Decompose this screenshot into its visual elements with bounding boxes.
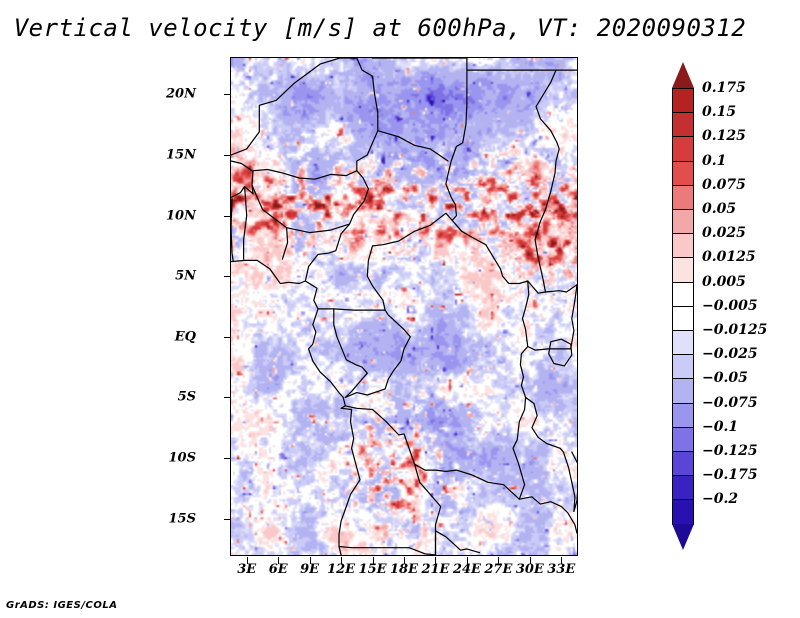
colorbar-tick-label: 0.075 (702, 177, 746, 193)
country-border-line (334, 309, 368, 398)
y-axis-label: 5S (136, 390, 196, 405)
map-plot-area (230, 57, 578, 556)
y-axis-label: 15N (136, 147, 196, 162)
y-axis-tick (224, 337, 231, 338)
country-border-line (513, 281, 529, 499)
colorbar-band (672, 354, 694, 379)
colorbar-band (672, 282, 694, 307)
country-border-line (446, 104, 467, 220)
x-axis-label: 33E (539, 562, 583, 577)
colorbar-band (672, 136, 694, 161)
y-axis-tick (224, 397, 231, 398)
country-border-line (373, 58, 467, 104)
colorbar-band (672, 88, 694, 113)
y-axis-label: 10N (136, 208, 196, 223)
country-border-line (373, 213, 453, 246)
colorbar-band (672, 161, 694, 186)
colorbar-band (672, 330, 694, 355)
y-axis-label: 10S (136, 451, 196, 466)
y-axis-tick (224, 276, 231, 277)
country-border-line (231, 199, 233, 261)
colorbar-tick-label: −0.0125 (702, 322, 767, 338)
y-axis-label: 20N (136, 87, 196, 102)
country-border-line (452, 220, 577, 293)
colorbar-tick-label: 0.125 (702, 128, 746, 144)
colorbar-band (672, 185, 694, 210)
colorbar-band (672, 112, 694, 137)
colorbar-band (672, 257, 694, 282)
country-border-line (519, 497, 577, 533)
y-axis-label: 15S (136, 511, 196, 526)
y-axis-tick (224, 216, 231, 217)
country-border-line (378, 131, 448, 161)
footer-credit: GrADS: IGES/COLA (6, 600, 117, 611)
colorbar-tick-label: −0.1 (702, 419, 738, 435)
colorbar-tick-label: 0.0125 (702, 249, 756, 265)
country-border-line (345, 406, 519, 499)
country-border-line (318, 309, 385, 310)
y-axis-tick (224, 458, 231, 459)
country-border-line (231, 170, 357, 198)
country-border-line (339, 547, 436, 556)
y-axis-tick (224, 519, 231, 520)
colorbar-band (672, 378, 694, 403)
country-border-line (244, 187, 247, 260)
country-border-line (231, 58, 340, 155)
y-axis-tick (224, 155, 231, 156)
colorbar-tick-label: −0.2 (702, 491, 738, 507)
y-axis-label: EQ (136, 329, 196, 344)
colorbar-band (672, 403, 694, 428)
colorbar-tick-label: 0.175 (702, 80, 746, 96)
colorbar-tick-label: 0.005 (702, 274, 746, 290)
colorbar-band (672, 451, 694, 476)
country-border-line (305, 171, 368, 281)
colorbar-band (672, 499, 694, 524)
country-border-line (549, 339, 572, 366)
country-border-line (563, 452, 575, 511)
country-border-line (231, 161, 252, 171)
colorbar-tick-label: 0.15 (702, 104, 736, 120)
country-border-line (340, 58, 378, 171)
country-border-line (436, 531, 480, 555)
colorbar-extend-min-arrow (672, 524, 694, 550)
colorbar-band (672, 209, 694, 234)
colorbar-tick-label: −0.05 (702, 370, 748, 386)
colorbar-tick-label: −0.175 (702, 467, 758, 483)
y-axis-label: 5N (136, 269, 196, 284)
country-border-line (305, 281, 360, 555)
country-borders-overlay (231, 58, 577, 555)
country-border-line (252, 185, 288, 259)
colorbar-tick-label: 0.05 (702, 201, 736, 217)
country-border-line (571, 285, 577, 349)
colorbar-extend-max-arrow (672, 62, 694, 88)
page-title: Vertical velocity [m/s] at 600hPa, VT: 2… (0, 14, 760, 42)
colorbar-tick-label: 0.1 (702, 153, 726, 169)
colorbar-band (672, 427, 694, 452)
colorbar-band (672, 475, 694, 500)
country-border-line (535, 70, 559, 292)
colorbar-band (672, 233, 694, 258)
colorbar-tick-label: 0.025 (702, 225, 746, 241)
country-border-line (415, 464, 441, 555)
colorbar-tick-label: −0.005 (702, 298, 758, 314)
country-border-line (526, 397, 564, 452)
country-border-line (345, 246, 410, 398)
country-border-line (287, 224, 350, 233)
y-axis-tick (224, 94, 231, 95)
country-border-line (231, 260, 305, 283)
colorbar-tick-label: −0.025 (702, 346, 758, 362)
colorbar-band (672, 306, 694, 331)
colorbar-tick-label: −0.125 (702, 443, 758, 459)
colorbar-tick-label: −0.075 (702, 395, 758, 411)
